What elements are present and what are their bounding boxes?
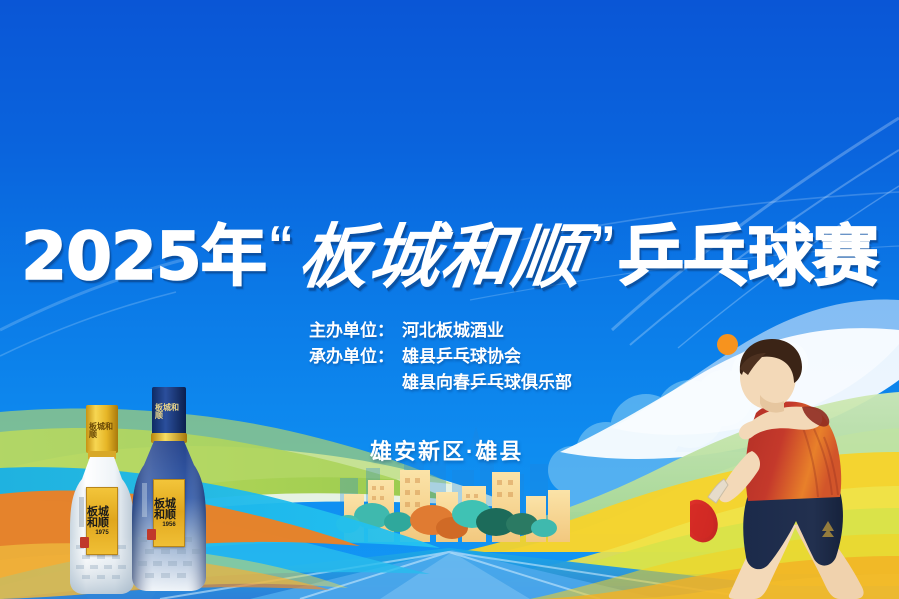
poster-canvas: 2025年 “ 板城和顺 ” 乒乓球赛 主办单位： 河北板城酒业 承办单位： 雄… [0,0,899,599]
bottle-cap-text: 板城和顺 [89,422,115,438]
table-tennis-ball-icon [717,334,738,355]
organizer-value: 雄县乒乓球协会 [394,344,521,370]
liquor-bottles: 板城和顺 板城和顺 1975 [52,385,242,599]
organizer-row: 承办单位： 雄县乒乓球协会 [300,344,572,370]
bottle-year: 1956 [162,522,175,528]
table-tennis-player-illustration [690,325,899,599]
bottle-year: 1975 [95,530,108,536]
venue-text: 雄安新区·雄县 [370,434,523,466]
organizer-label: 承办单位： [300,344,394,370]
title-brand: 板城和顺 [290,201,594,302]
poster-title: 2025年 “ 板城和顺 ” 乒乓球赛 [0,206,899,296]
title-event: 乒乓球赛 [618,203,878,299]
organizer-row: 主办单位： 河北板城酒业 [300,318,572,344]
title-year: 2025年 [21,203,266,299]
organizer-value: 雄县向春乒乓球俱乐部 [300,370,572,396]
bottle-label: 板城和顺 1975 [86,487,118,555]
bottle-cap-text: 板城和顺 [155,403,183,419]
title-quote-open: “ [266,215,296,275]
bottle-brand: 板城和顺 [87,506,117,528]
organizer-block: 主办单位： 河北板城酒业 承办单位： 雄县乒乓球协会 雄县向春乒乓球俱乐部 [300,318,572,396]
bottle-blue: 板城和顺 板城和顺 1956 [126,387,212,593]
bottle-label: 板城和顺 1956 [153,479,185,547]
bottle-seal-stamp [147,529,156,540]
title-quote-close: ” [588,215,618,275]
organizer-row: 雄县向春乒乓球俱乐部 [300,370,572,396]
organizer-label: 主办单位： [300,318,394,344]
bottle-seal-stamp [80,537,89,548]
organizer-value: 河北板城酒业 [394,318,504,344]
bottle-brand: 板城和顺 [154,498,184,520]
